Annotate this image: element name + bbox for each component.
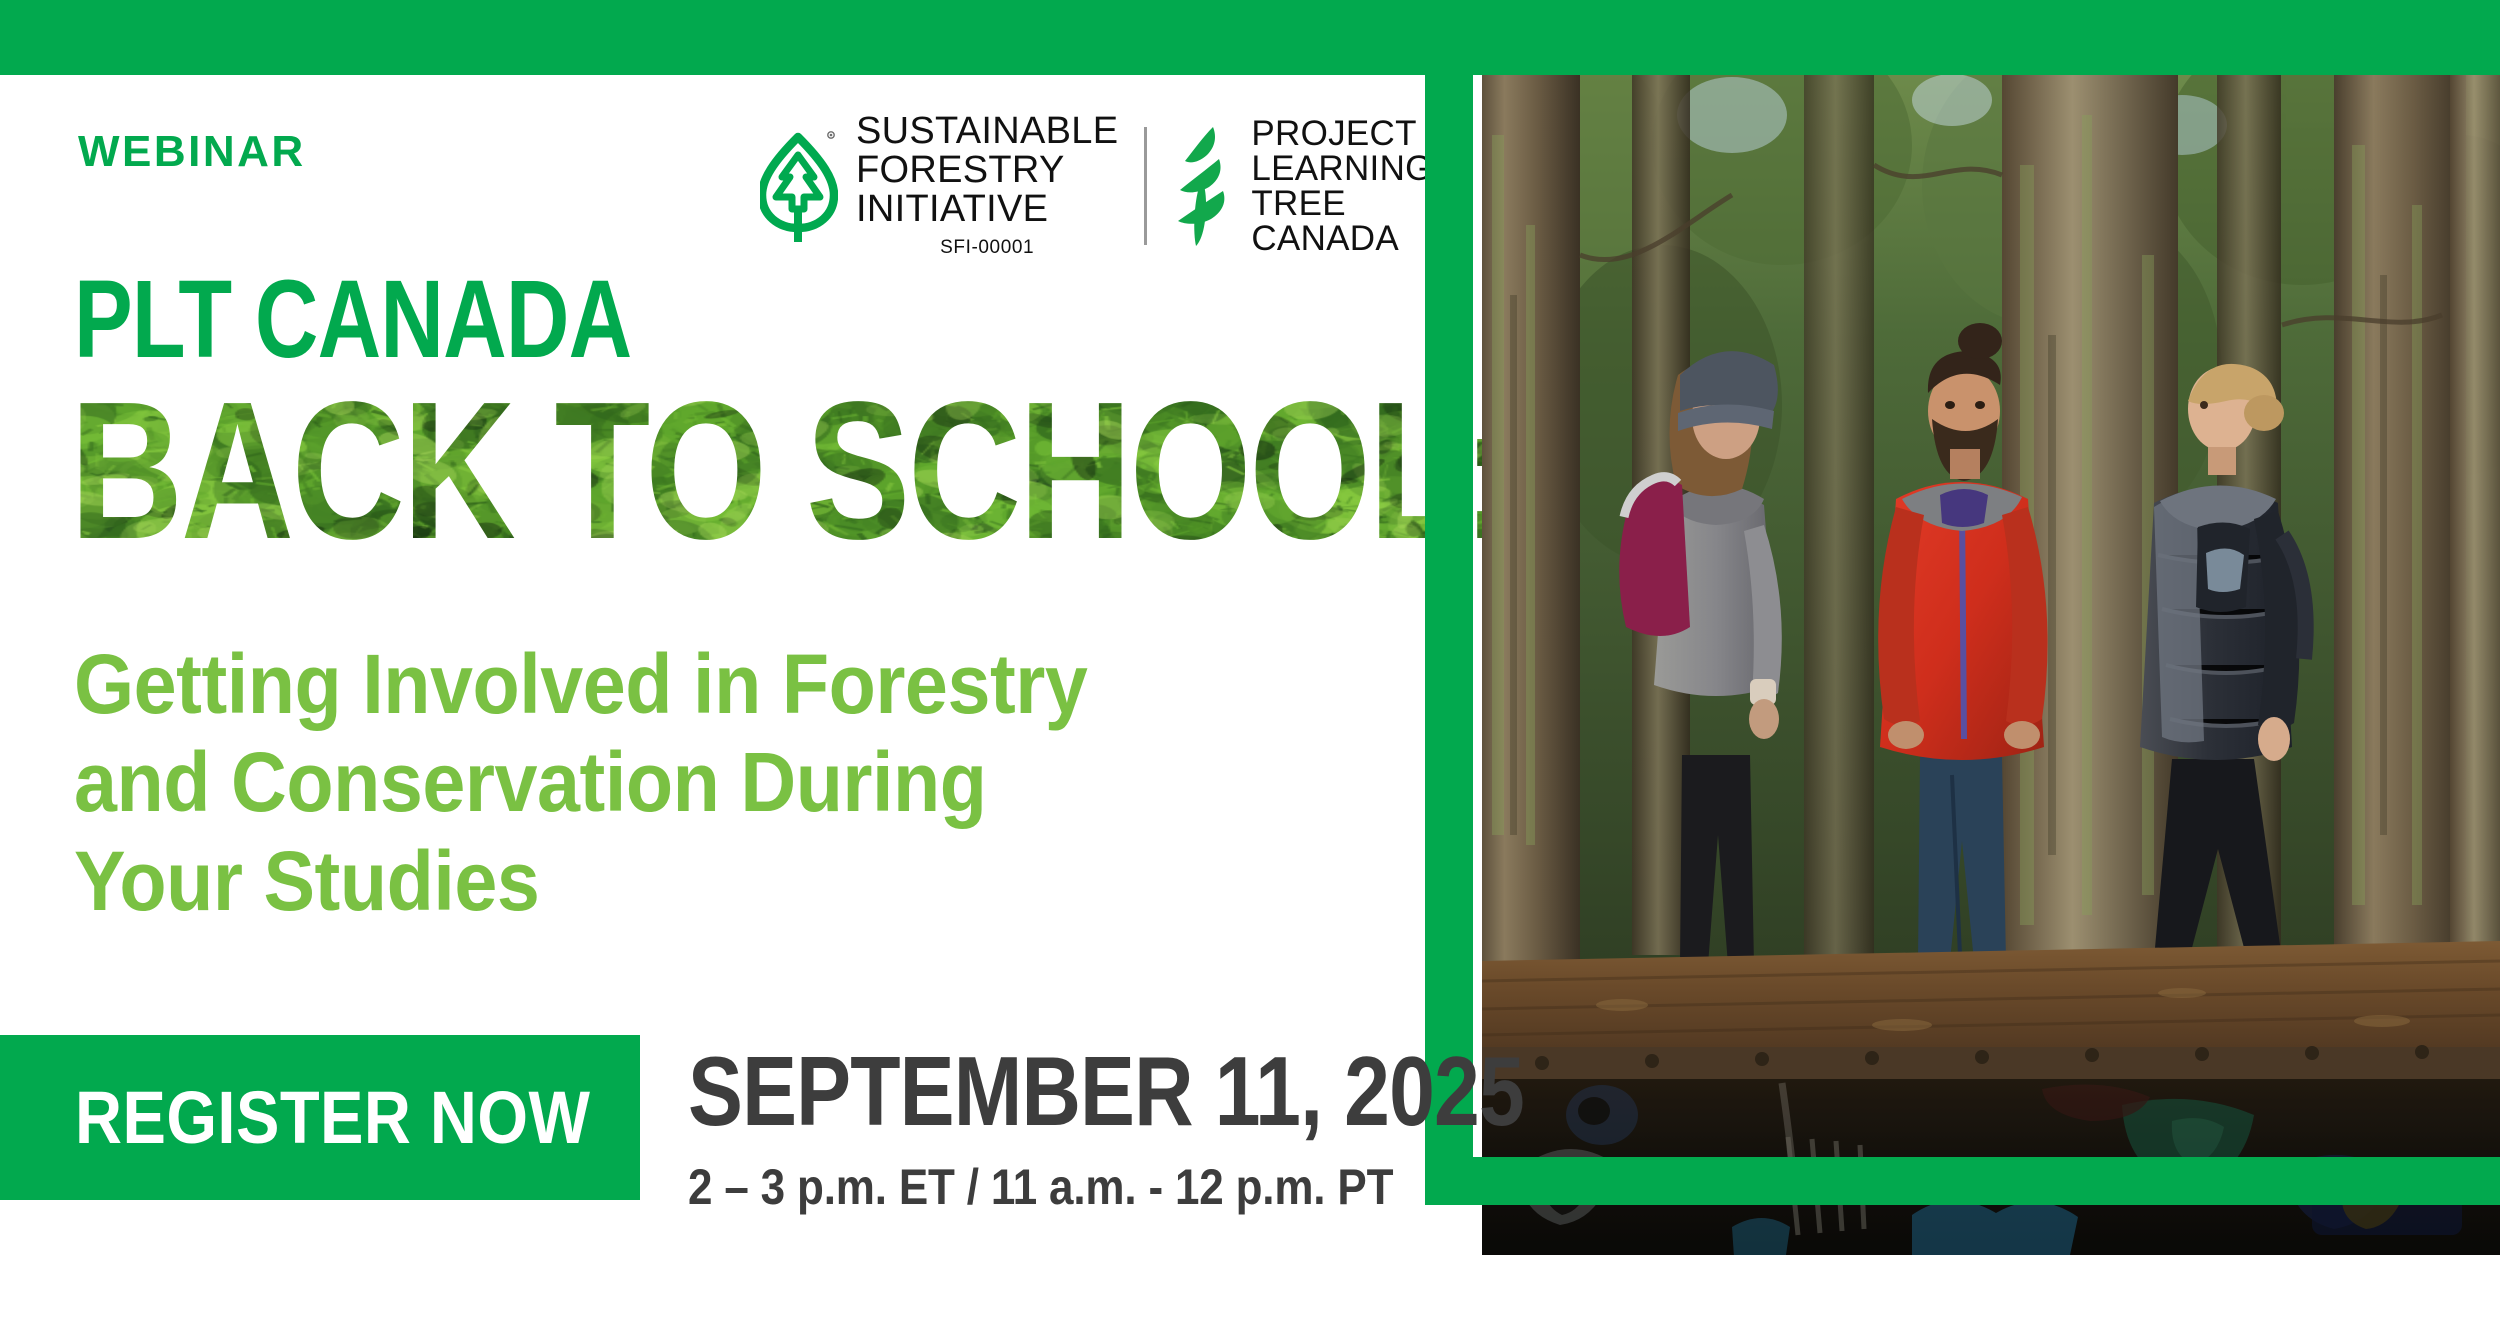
sfi-logo: SUSTAINABLE FORESTRY INITIATIVE SFI-0000… xyxy=(760,112,1118,258)
sfi-line-1: SUSTAINABLE xyxy=(856,112,1118,151)
plt-line-4: CANADA xyxy=(1251,221,1432,256)
plt-line-2: LEARNING xyxy=(1251,151,1432,186)
main-headline: BACK TO SCHOOL: xyxy=(70,373,1512,569)
event-date: SEPTEMBER 11, 2025 xyxy=(688,1042,1524,1140)
sfi-line-2: FORESTRY xyxy=(856,151,1118,190)
frame-bottom-bar xyxy=(1425,1157,2500,1205)
sfi-certification-code: SFI-00001 xyxy=(856,237,1118,259)
plt-canada-logo: PROJECT LEARNING TREE CANADA xyxy=(1173,116,1432,256)
eyebrow-label: WEBINAR xyxy=(78,130,306,174)
register-now-button[interactable]: REGISTER NOW xyxy=(0,1035,640,1200)
sfi-leaf-tree-icon xyxy=(760,127,838,245)
kicker-heading: PLT CANADA xyxy=(74,265,631,375)
frame-top-bar xyxy=(0,0,2500,75)
webinar-promo-banner: WEBINAR SUSTAINABLE FORESTRY INITIATIVE … xyxy=(0,0,2500,1317)
plt-line-3: TREE xyxy=(1251,186,1432,221)
plt-brushstroke-tree-icon xyxy=(1173,125,1235,247)
sfi-line-3: INITIATIVE xyxy=(856,190,1118,229)
register-now-label: REGISTER NOW xyxy=(75,1081,590,1155)
subheadline: Getting Involved in Forestry and Conserv… xyxy=(74,635,1087,930)
logo-lockup: SUSTAINABLE FORESTRY INITIATIVE SFI-0000… xyxy=(760,113,1433,258)
plt-line-1: PROJECT xyxy=(1251,116,1432,151)
logo-divider xyxy=(1144,127,1147,245)
